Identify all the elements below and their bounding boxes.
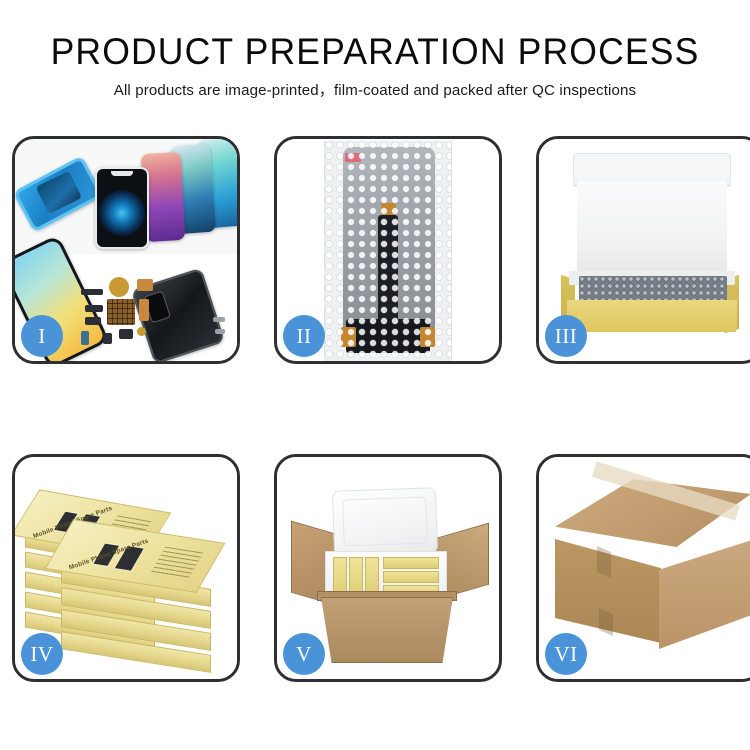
step-badge-5: V (283, 633, 325, 675)
step-badge-3: III (545, 315, 587, 357)
part-speaker-icon (81, 289, 103, 295)
bubble-wrap-bag-icon (324, 141, 452, 361)
step-badge-2: II (283, 315, 325, 357)
process-step-panel-2: II (274, 136, 502, 364)
step-badge-4: IV (21, 633, 63, 675)
box-front-panel-icon (567, 300, 737, 332)
part-flex-cable-icon (137, 279, 153, 291)
part-camera-ring-icon (109, 277, 129, 297)
header: PRODUCT PREPARATION PROCESS All products… (0, 30, 750, 101)
packed-box-4 (383, 557, 439, 569)
page-subtitle: All products are image-printed，film-coat… (4, 81, 747, 101)
page-title: PRODUCT PREPARATION PROCESS (15, 30, 735, 74)
step-badge-6: VI (545, 633, 587, 675)
part-logic-board-icon (107, 299, 135, 325)
carton-right-face-icon (659, 539, 750, 649)
blue-adhesive-frame-icon (15, 155, 103, 232)
foam-sheet-icon (577, 181, 727, 277)
part-sim-tray-icon (103, 333, 112, 344)
process-step-panel-6: VI (536, 454, 750, 682)
part-pin-icon (213, 317, 225, 322)
process-step-panel-4: Mobile Phone Spare Parts Mobile Phone Sp… (12, 454, 240, 682)
phone-black-screen-icon (95, 167, 149, 249)
part-pin-secondary-icon (215, 329, 225, 334)
part-button-icon (119, 329, 133, 339)
part-connector-icon (85, 305, 103, 312)
part-sensor-icon (81, 331, 89, 345)
process-step-grid: I II (12, 136, 739, 682)
step-badge-1: I (21, 315, 63, 357)
process-step-panel-5: V (274, 454, 502, 682)
foam-cooler-lid-icon (332, 487, 438, 557)
product-preparation-infographic: PRODUCT PREPARATION PROCESS All products… (0, 0, 750, 750)
process-step-panel-1: I (12, 136, 240, 364)
packed-box-5 (383, 571, 439, 583)
part-ribbon-icon (139, 299, 149, 321)
part-screw-icon (137, 327, 146, 336)
carton-body-icon (321, 597, 453, 663)
process-step-panel-3: III (536, 136, 750, 364)
part-bracket-icon (85, 317, 101, 325)
